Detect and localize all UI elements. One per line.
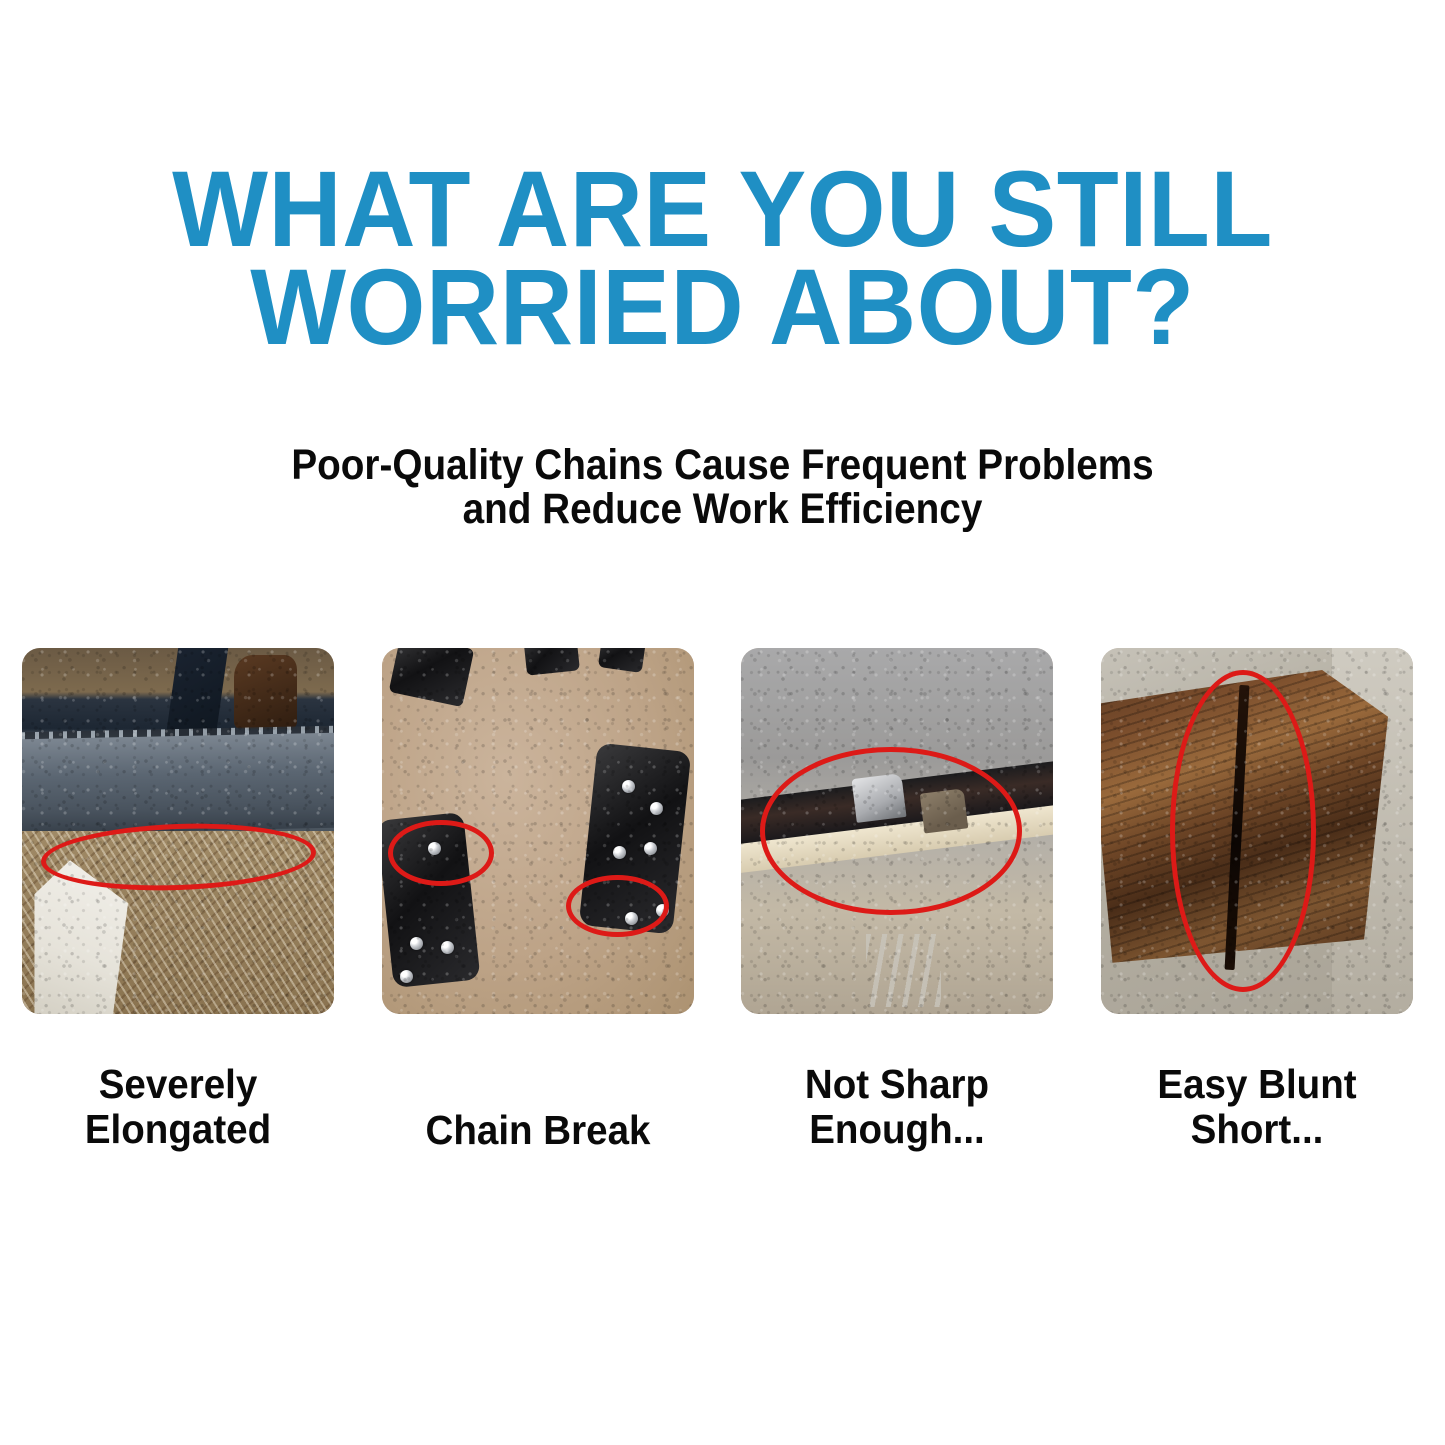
photo-grain xyxy=(1101,648,1413,1014)
caption-severely-elongated: Severely Elongated xyxy=(31,1062,324,1153)
photo-grain xyxy=(22,648,334,1014)
photo-not-sharp-enough xyxy=(741,648,1053,1014)
problem-panel-not-sharp-enough xyxy=(741,648,1053,1014)
page-title: WHAT ARE YOU STILL WORRIED ABOUT? xyxy=(43,160,1401,356)
caption-not-sharp-enough: Not Sharp Enough... xyxy=(751,1062,1044,1153)
caption-chain-break: Chain Break xyxy=(391,1062,684,1153)
caption-row: Severely Elongated Chain Break Not Sharp… xyxy=(22,1062,1413,1153)
caption-easy-blunt-short: Easy Blunt Short... xyxy=(1110,1062,1403,1153)
photo-severely-elongated xyxy=(22,648,334,1014)
subtitle-text: Poor-Quality Chains Cause Frequent Probl… xyxy=(72,443,1373,531)
photo-chain-break xyxy=(382,648,694,1014)
photo-grain xyxy=(382,648,694,1014)
photo-grain xyxy=(741,648,1053,1014)
photo-easy-blunt-short xyxy=(1101,648,1413,1014)
infographic-page: WHAT ARE YOU STILL WORRIED ABOUT? Poor-Q… xyxy=(0,0,1445,1445)
problem-panel-easy-blunt-short xyxy=(1101,648,1413,1014)
problem-panel-strip xyxy=(22,648,1413,1014)
problem-panel-severely-elongated xyxy=(22,648,334,1014)
problem-panel-chain-break xyxy=(382,648,694,1014)
